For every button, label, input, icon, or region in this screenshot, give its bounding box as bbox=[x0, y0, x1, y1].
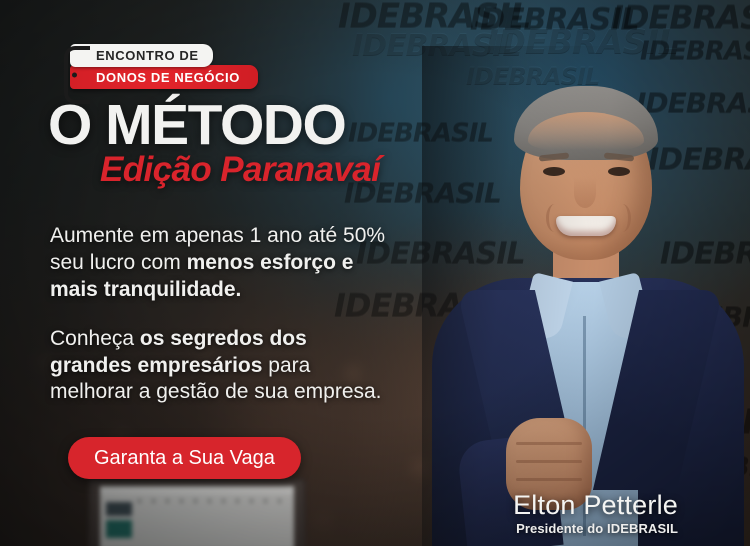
badge-donos-de-negocio: DONOS DE NEGÓCIO bbox=[70, 65, 258, 89]
cta-button[interactable]: Garanta a Sua Vaga bbox=[68, 437, 301, 479]
copy-p2-text-1: Conheça bbox=[50, 327, 140, 350]
event-badge-group: ENCONTRO DE DONOS DE NEGÓCIO bbox=[64, 44, 258, 89]
copy-paragraph-2: Conheça os segredos dos grandes empresár… bbox=[50, 326, 390, 407]
page-title: O MÉTODO bbox=[48, 97, 345, 154]
speaker-name-block: Elton Petterle Presidente do IDEBRASIL bbox=[513, 491, 678, 536]
bracket-clamp-icon bbox=[64, 46, 90, 104]
body-copy: Aumente em apenas 1 ano até 50% seu lucr… bbox=[50, 223, 390, 428]
copy-paragraph-1: Aumente em apenas 1 ano até 50% seu lucr… bbox=[50, 223, 390, 304]
page-subtitle: Edição Paranavaí bbox=[100, 152, 380, 187]
badge-row-bottom: DONOS DE NEGÓCIO bbox=[64, 67, 258, 89]
promo-banner: IDEBRASILIDEBRASILIDEBRASILIDEBRASILIDEB… bbox=[0, 0, 750, 546]
speaker-name: Elton Petterle bbox=[513, 491, 678, 519]
speaker-role: Presidente do IDEBRASIL bbox=[513, 521, 678, 536]
badge-row-top: ENCONTRO DE bbox=[64, 44, 258, 67]
badge-encontro-de: ENCONTRO DE bbox=[70, 44, 213, 67]
